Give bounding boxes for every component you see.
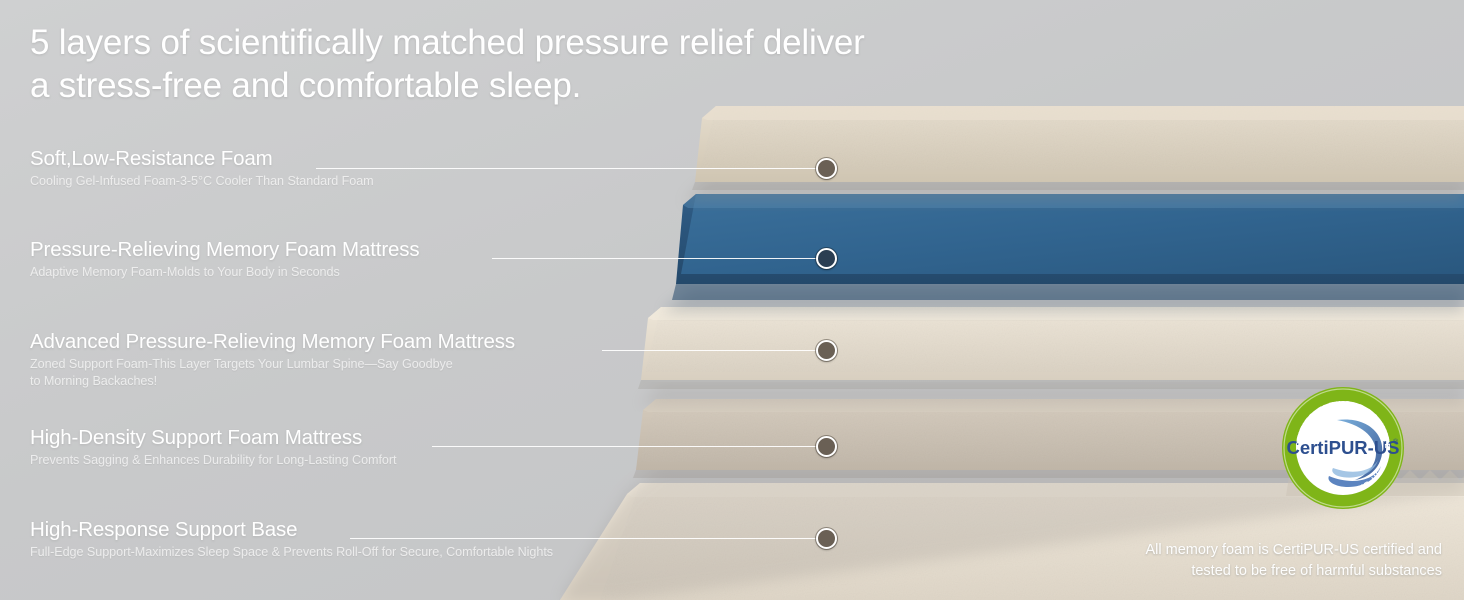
- layer-1-title: Soft,Low-Resistance Foam: [30, 147, 273, 171]
- callout-dot-2[interactable]: [816, 248, 837, 269]
- layer-callout-5: High-Response Support Base Full-Edge Sup…: [30, 518, 553, 561]
- layer-2-subtitle: Adaptive Memory Foam-Molds to Your Body …: [30, 264, 419, 281]
- layer-callout-2: Pressure-Relieving Memory Foam Mattress …: [30, 238, 419, 281]
- leader-line-1: [316, 168, 816, 169]
- infographic-canvas: 5 layers of scientifically matched press…: [0, 0, 1464, 600]
- layer-3-title: Advanced Pressure-Relieving Memory Foam …: [30, 330, 515, 354]
- leader-line-4: [432, 446, 816, 447]
- callout-dot-1[interactable]: [816, 158, 837, 179]
- page-title: 5 layers of scientifically matched press…: [30, 22, 865, 107]
- layer-1-subtitle: Cooling Gel-Infused Foam-3-5°C Cooler Th…: [30, 173, 374, 190]
- mattress-layer-2-memory-foam-blue: [662, 194, 1464, 312]
- leader-line-3: [602, 350, 816, 351]
- layer-5-subtitle: Full-Edge Support-Maximizes Sleep Space …: [30, 544, 553, 561]
- layer-5-title: High-Response Support Base: [30, 518, 297, 542]
- layer-callout-1: Soft,Low-Resistance Foam Cooling Gel-Inf…: [30, 147, 374, 190]
- layer-4-subtitle: Prevents Sagging & Enhances Durability f…: [30, 452, 396, 469]
- layer-4-title: High-Density Support Foam Mattress: [30, 426, 362, 450]
- leader-line-2: [492, 258, 816, 259]
- layer-3-subtitle: Zoned Support Foam-This Layer Targets Yo…: [30, 356, 515, 389]
- badge-registered-mark: ®: [1393, 438, 1399, 446]
- layer-callout-4: High-Density Support Foam Mattress Preve…: [30, 426, 396, 469]
- certipur-badge-svg: CertiPUR-US ® CONTAINS CERTIFIED FLEXIBL…: [1281, 386, 1405, 510]
- callout-dot-3[interactable]: [816, 340, 837, 361]
- certipur-us-badge: CertiPUR-US ® CONTAINS CERTIFIED FLEXIBL…: [1281, 386, 1405, 515]
- callout-dot-4[interactable]: [816, 436, 837, 457]
- layer-callout-3: Advanced Pressure-Relieving Memory Foam …: [30, 330, 515, 389]
- mattress-layer-1-soft-foam: [684, 106, 1464, 202]
- callout-dot-5[interactable]: [816, 528, 837, 549]
- layer-2-title: Pressure-Relieving Memory Foam Mattress: [30, 238, 419, 262]
- certification-caption: All memory foam is CertiPUR-US certified…: [1145, 540, 1442, 582]
